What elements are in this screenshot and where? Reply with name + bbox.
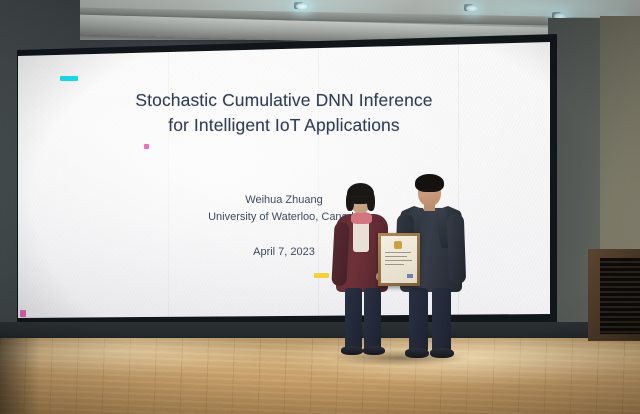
person-right-arm-right <box>447 214 466 285</box>
photo-scene: Stochastic Cumulative DNN Inference for … <box>0 0 640 414</box>
person-right-leg-right <box>432 288 451 352</box>
person-right-leg-left <box>409 288 428 352</box>
person-left-leg-right <box>364 288 381 350</box>
person-left-glasses <box>351 196 370 202</box>
certificate-text-line-2 <box>385 256 407 257</box>
certificate-text-line-1 <box>385 252 411 253</box>
person-right-brow <box>421 189 438 191</box>
person-left-leg-left <box>345 288 362 350</box>
person-left-scarf <box>351 212 372 224</box>
certificate-seal <box>407 274 413 278</box>
people-group <box>0 0 640 414</box>
certificate-text-line-4 <box>385 264 404 265</box>
certificate-text-line-3 <box>385 260 412 261</box>
person-right-shoe-left <box>405 348 429 358</box>
person-left-shoe-left <box>341 346 363 355</box>
person-right-shoe-right <box>430 348 454 358</box>
certificate-emblem-icon <box>394 241 402 249</box>
person-left-shoe-right <box>363 346 385 355</box>
